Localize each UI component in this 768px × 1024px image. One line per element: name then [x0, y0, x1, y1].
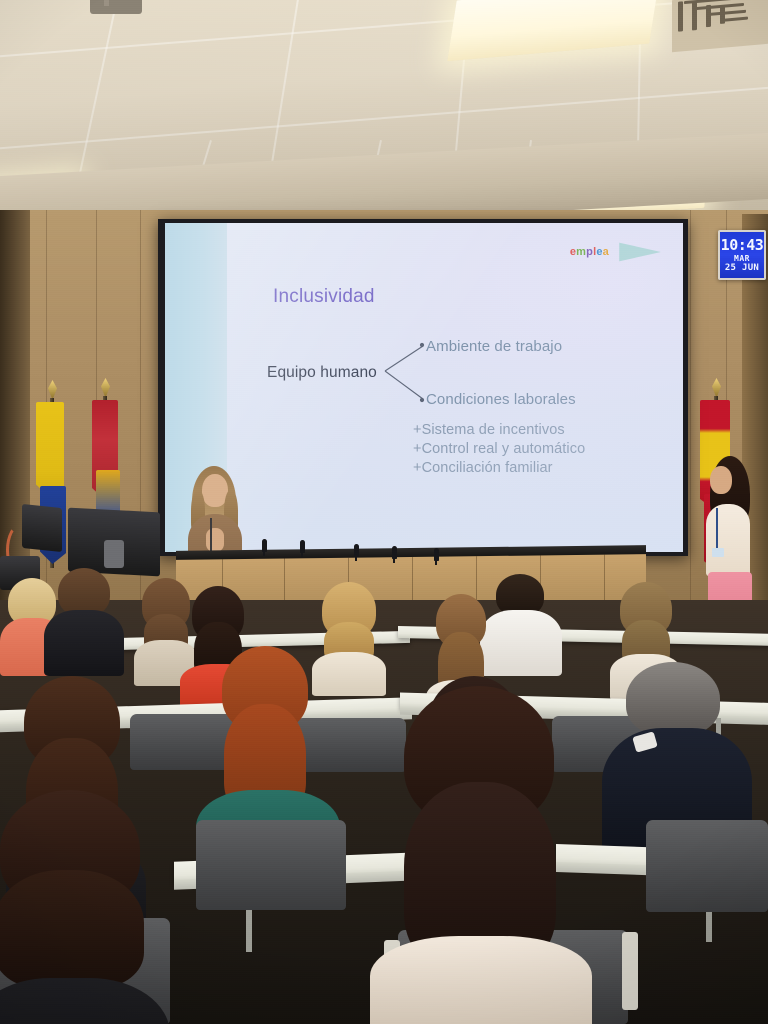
- slide-bullet: +Sistema de incentivos: [413, 421, 585, 440]
- logo-letter: a: [603, 246, 609, 258]
- attendee-torso: [480, 610, 562, 676]
- wall-clock-display: 10:43 MAR 25 JUN: [718, 230, 766, 280]
- air-diffuser-vent: [672, 0, 768, 52]
- chair: [196, 820, 346, 910]
- clock-day-of-week: MAR: [734, 255, 750, 263]
- slide-bullet: +Conciliación familiar: [413, 459, 585, 478]
- triangle-arrow-icon: [619, 239, 661, 265]
- branch-connector-lines: [227, 223, 683, 552]
- chair: [646, 820, 768, 912]
- logo-letter: p: [586, 246, 593, 258]
- attendee-hair: [58, 568, 110, 616]
- chair-arm: [622, 932, 638, 1010]
- assistant-head: [710, 466, 732, 494]
- attendee-torso: [312, 652, 386, 696]
- emplea-logo-wordmark: e m p l e a: [570, 246, 609, 258]
- slide-branch-2: Condiciones laborales: [426, 391, 576, 408]
- slide-title: Inclusividad: [273, 286, 375, 308]
- av-monitor-stand: [104, 540, 124, 568]
- conference-room-photo: 10:43 MAR 25 JUN e m p l e a Inclusi: [0, 0, 768, 1024]
- slide-bullet: +Control real y automático: [413, 440, 585, 459]
- slide-branch-1: Ambiente de trabajo: [426, 338, 562, 355]
- logo-letter: m: [576, 246, 586, 258]
- microphone: [300, 540, 305, 553]
- presenter-hands: [206, 528, 224, 552]
- emplea-logo: e m p l e a: [570, 239, 661, 265]
- slide-root-node: Equipo humano: [267, 364, 377, 382]
- attendee-hair-long: [0, 870, 144, 988]
- assistant-badge: [712, 548, 724, 557]
- screen-glare: [227, 223, 683, 552]
- clock-lcd-panel: 10:43 MAR 25 JUN: [720, 232, 764, 278]
- microphone: [354, 544, 359, 557]
- assistant-top: [706, 504, 750, 576]
- clock-date: 25 JUN: [725, 264, 759, 273]
- microphone: [434, 548, 439, 561]
- projection-screen[interactable]: e m p l e a Inclusividad Equipo humano: [165, 223, 683, 552]
- attendee-hair: [626, 662, 720, 736]
- microphone: [392, 546, 397, 559]
- chair: [296, 718, 406, 772]
- slide-bullet-list: +Sistema de incentivos +Control real y a…: [413, 421, 585, 478]
- presentation-slide[interactable]: e m p l e a Inclusividad Equipo humano: [227, 223, 683, 552]
- microphone: [262, 539, 267, 552]
- ceiling: [0, 0, 768, 238]
- attendee-torso: [370, 936, 592, 1024]
- assistant-lanyard: [716, 508, 718, 550]
- attendee-torso: [44, 610, 124, 676]
- ceiling-mount-arm: [104, 0, 109, 6]
- clock-time: 10:43: [721, 238, 764, 253]
- ceiling-mount: [90, 0, 142, 14]
